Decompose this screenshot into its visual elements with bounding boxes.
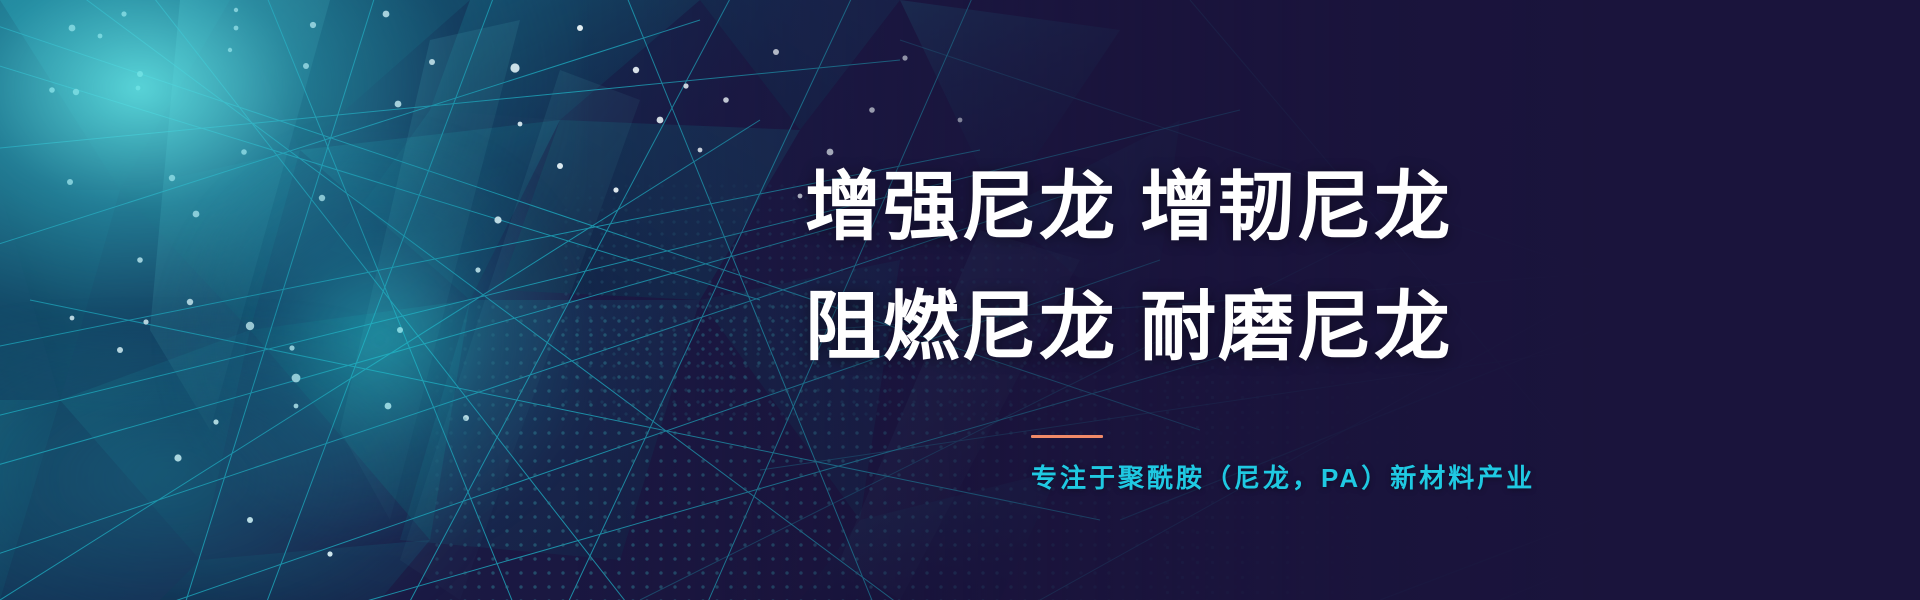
accent-divider bbox=[1031, 435, 1103, 438]
banner-headline: 增强尼龙 增韧尼龙 阻燃尼龙 耐磨尼龙 bbox=[805, 148, 1565, 388]
headline-line-2: 阻燃尼龙 耐磨尼龙 bbox=[805, 268, 1565, 388]
hero-banner: 增强尼龙 增韧尼龙 阻燃尼龙 耐磨尼龙 专注于聚酰胺（尼龙，PA）新材料产业 bbox=[0, 0, 1920, 600]
banner-content: 增强尼龙 增韧尼龙 阻燃尼龙 耐磨尼龙 专注于聚酰胺（尼龙，PA）新材料产业 bbox=[0, 0, 1920, 600]
headline-line-1: 增强尼龙 增韧尼龙 bbox=[805, 148, 1565, 268]
banner-subtitle: 专注于聚酰胺（尼龙，PA）新材料产业 bbox=[1031, 458, 1535, 495]
